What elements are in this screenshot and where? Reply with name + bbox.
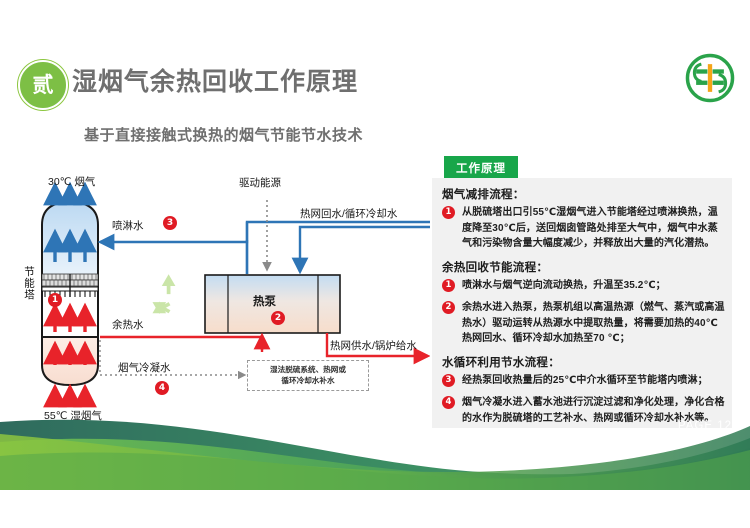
recycle-icon [152,274,175,314]
panel-group-heading: 烟气减排流程： [442,186,726,202]
panel-item-text: 从脱硫塔出口引55℃湿烟气进入节能塔经过喷淋换热，温度降至30℃后，送回烟囱管路… [462,205,726,252]
label-heat-pump: 热泵 [253,293,276,309]
label-heat-net-return: 热网回水/循环冷却水 [300,206,397,221]
panel-item-number: 3 [442,374,455,387]
footer-wave-svg [0,400,750,490]
panel-item-text: 经热泵回收热量后的25℃中介水循环至节能塔内喷淋； [462,373,726,389]
diagram-num-3: 3 [163,216,177,230]
label-spray-water: 喷淋水 [112,218,144,233]
panel-item: 3经热泵回收热量后的25℃中介水循环至节能塔内喷淋； [442,373,726,389]
makeup-water-line-2: 循环冷却水补水 [281,376,334,385]
panel-group-heading: 水循环利用节水流程： [442,354,726,370]
page-subtitle: 基于直接接触式换热的烟气节能节水技术 [84,124,363,145]
panel-item-text: 余热水进入热泵，热泵机组以高温热源（燃气、蒸汽或高温热水）驱动运转从热源水中提取… [462,300,726,347]
panel-item-text: 喷淋水与烟气逆向流动换热，升温至35.2℃； [462,278,726,294]
page-number: PAGE 12 [678,420,732,432]
diagram-num-4: 4 [155,381,169,395]
work-principle-panel: 烟气减排流程：1从脱硫塔出口引55℃湿烟气进入节能塔经过喷淋换热，温度降至30℃… [432,178,732,428]
panel-item-number: 2 [442,301,455,314]
panel-group-heading: 余热回收节能流程： [442,259,726,275]
panel-tag: 工作原理 [444,156,518,180]
label-flue-condensate: 烟气冷凝水 [118,360,171,375]
panel-group: 余热回收节能流程：1喷淋水与烟气逆向流动换热，升温至35.2℃；2余热水进入热泵… [442,259,726,347]
label-heat-net-supply: 热网供水/锅炉给水 [330,338,417,353]
slide-header: 贰 湿烟气余热回收工作原理 基于直接接触式换热的烟气节能节水技术 [0,52,750,122]
footer-decoration: PAGE 12 [0,400,750,490]
diagram-num-2: 2 [271,311,285,325]
slide-root: 贰 湿烟气余热回收工作原理 基于直接接触式换热的烟气节能节水技术 [0,0,750,528]
panel-item-number: 1 [442,206,455,219]
company-logo-icon [684,52,736,104]
label-energy-tower: 节能塔 [22,266,37,301]
makeup-water-line-1: 湿法脱硫系统、热网或 [270,365,346,374]
diagram-num-1: 1 [48,293,62,307]
panel-content: 烟气减排流程：1从脱硫塔出口引55℃湿烟气进入节能塔经过喷淋换热，温度降至30℃… [442,186,726,433]
section-number-badge: 贰 [18,60,68,110]
label-tower-outlet: 30℃ 烟气 [48,174,95,189]
label-drive-energy: 驱动能源 [239,175,281,190]
panel-group: 烟气减排流程：1从脱硫塔出口引55℃湿烟气进入节能塔经过喷淋换热，温度降至30℃… [442,186,726,252]
panel-item-number: 1 [442,279,455,292]
makeup-water-box: 湿法脱硫系统、热网或 循环冷却水补水 [247,360,369,391]
panel-item: 1从脱硫塔出口引55℃湿烟气进入节能塔经过喷淋换热，温度降至30℃后，送回烟囱管… [442,205,726,252]
label-waste-heat-water: 余热水 [112,317,144,332]
process-diagram: 30℃ 烟气 55℃ 湿烟气 节能塔 喷淋水 3 1 余热水 烟气冷凝水 4 驱… [0,170,430,430]
page-title: 湿烟气余热回收工作原理 [72,62,358,98]
panel-item: 2余热水进入热泵，热泵机组以高温热源（燃气、蒸汽或高温热水）驱动运转从热源水中提… [442,300,726,347]
panel-item: 1喷淋水与烟气逆向流动换热，升温至35.2℃； [442,278,726,294]
